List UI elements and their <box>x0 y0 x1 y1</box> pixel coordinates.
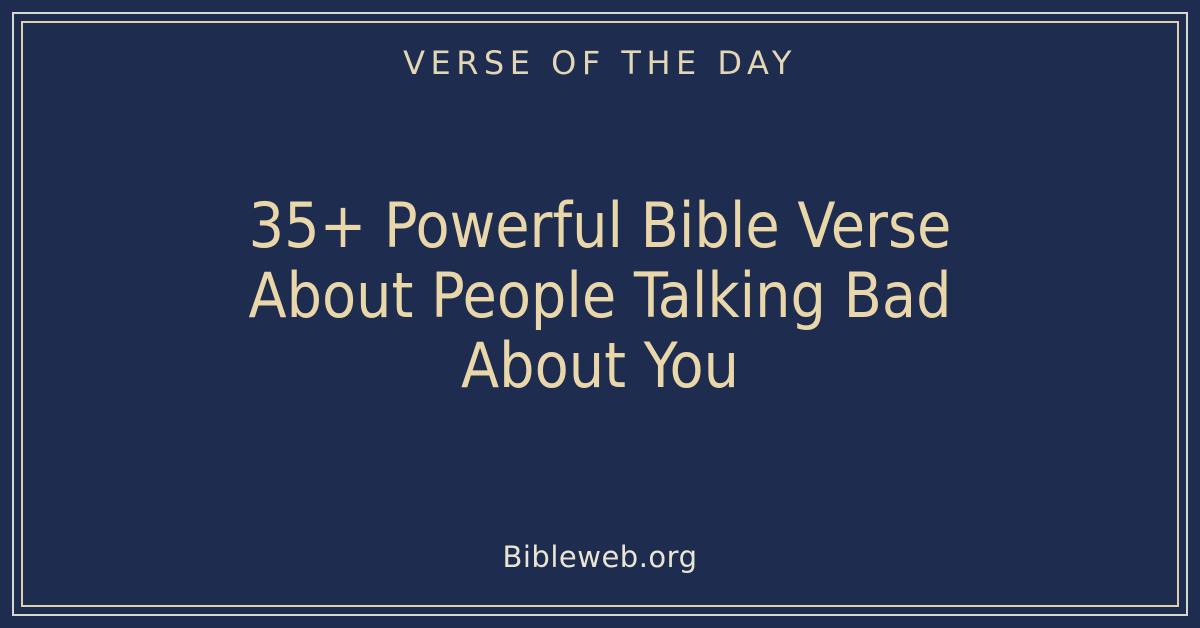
card-content: VERSE OF THE DAY 35+ Powerful Bible Vers… <box>24 24 1176 604</box>
page-title: 35+ Powerful Bible Verse About People Ta… <box>160 191 1040 401</box>
site-name: Bibleweb.org <box>502 542 697 574</box>
eyebrow-label: VERSE OF THE DAY <box>403 46 797 81</box>
title-container: 35+ Powerful Bible Verse About People Ta… <box>24 81 1176 542</box>
verse-of-the-day-card: VERSE OF THE DAY 35+ Powerful Bible Vers… <box>0 0 1200 628</box>
